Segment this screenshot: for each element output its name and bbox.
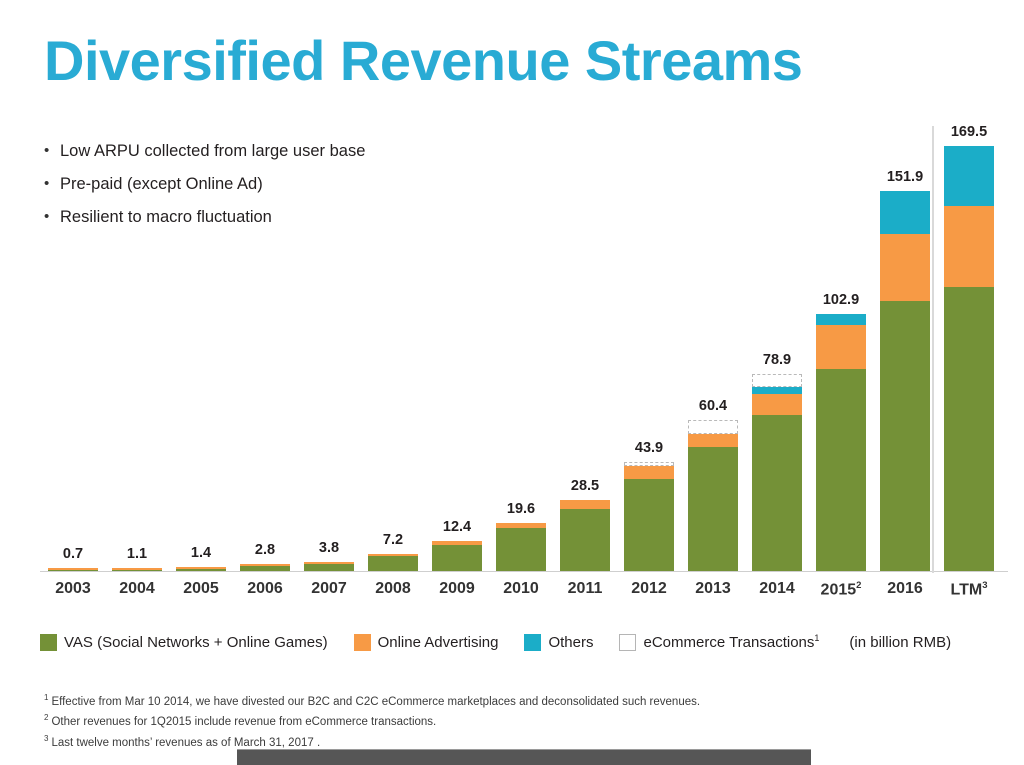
legend-item[interactable]: Online Advertising [354, 634, 499, 651]
bar-segment [816, 325, 866, 369]
bar-group[interactable] [48, 120, 98, 572]
bar-group[interactable] [688, 120, 738, 572]
footnote-text: Effective from Mar 10 2014, we have dive… [51, 696, 700, 708]
legend-item[interactable]: eCommerce Transactions1 [619, 633, 819, 651]
x-axis-tick-label: 2006 [240, 580, 290, 598]
chart-plot-area: 0.71.11.42.83.87.212.419.628.543.960.478… [40, 120, 1010, 572]
bar-stack [752, 374, 802, 572]
x-axis-tick-label: 2004 [112, 580, 162, 598]
bar-group[interactable] [368, 120, 418, 572]
tick-label-text: 2010 [503, 580, 539, 597]
bar-segment [624, 479, 674, 572]
x-axis-tick-label: 20152 [816, 580, 866, 599]
footnote-marker: 2 [44, 713, 48, 722]
tick-label-text: 2015 [821, 581, 857, 598]
bar-value-label: 0.7 [63, 546, 83, 562]
footnote-marker: 3 [44, 734, 48, 743]
bar-group[interactable] [560, 120, 610, 572]
tick-label-text: 2012 [631, 580, 667, 597]
tick-label-text: 2016 [887, 580, 923, 597]
footnote-text: Last twelve months’ revenues as of March… [51, 736, 320, 748]
bar-stack [816, 314, 866, 572]
bar-segment [560, 500, 610, 509]
legend-swatch-icon [354, 634, 371, 651]
legend-swatch-icon [40, 634, 57, 651]
bar-segment [688, 420, 738, 434]
tick-label-text: 2013 [695, 580, 731, 597]
bar-value-label: 28.5 [571, 478, 599, 494]
bar-value-label: 78.9 [763, 352, 791, 368]
bar-value-label: 1.1 [127, 546, 147, 562]
x-axis-tick-label: 2009 [432, 580, 482, 598]
legend-label-text: eCommerce Transactions [643, 634, 814, 651]
bar-stack [496, 523, 546, 572]
bar-group[interactable] [240, 120, 290, 572]
legend-units-label: (in billion RMB) [849, 634, 951, 651]
legend-label: Online Advertising [378, 634, 499, 651]
footnote-item: 3Last twelve months’ revenues as of Marc… [44, 731, 874, 751]
tick-label-text: 2011 [568, 580, 603, 597]
bar-stack [432, 541, 482, 572]
x-axis-tick-label: 2011 [560, 580, 610, 598]
x-axis-tick-label: 2008 [368, 580, 418, 598]
footnote-marker: 1 [44, 693, 48, 702]
bar-segment [688, 447, 738, 572]
bar-segment [752, 387, 802, 394]
x-axis-baseline [40, 571, 1008, 572]
bar-segment [432, 545, 482, 572]
legend-label: eCommerce Transactions1 [643, 633, 819, 651]
tick-label-superscript: 3 [982, 580, 987, 591]
bar-stack [688, 420, 738, 572]
legend-label-superscript: 1 [814, 633, 819, 643]
bar-stack [624, 462, 674, 572]
ltm-separator-line [932, 126, 934, 573]
bar-segment [880, 301, 930, 572]
x-axis-tick-label: 2016 [880, 580, 930, 598]
bar-group[interactable] [752, 120, 802, 572]
tick-label-text: LTM [951, 581, 983, 598]
bar-stack [944, 146, 994, 572]
bar-segment [752, 374, 802, 387]
bar-group[interactable] [816, 120, 866, 572]
tick-label-text: 2003 [55, 580, 91, 597]
bar-segment [752, 394, 802, 415]
bottom-accent-bar [237, 749, 811, 765]
x-axis-tick-label: 2013 [688, 580, 738, 598]
tick-label-superscript: 2 [856, 580, 861, 591]
legend-item[interactable]: Others [524, 634, 593, 651]
x-axis-tick-label: 2012 [624, 580, 674, 598]
legend-item[interactable]: VAS (Social Networks + Online Games) [40, 634, 328, 651]
bar-value-label: 102.9 [823, 292, 859, 308]
tick-label-text: 2007 [311, 580, 347, 597]
bar-value-label: 151.9 [887, 169, 923, 185]
bar-group[interactable] [432, 120, 482, 572]
legend-label-text: Online Advertising [378, 634, 499, 651]
bar-segment [880, 234, 930, 302]
footnote-item: 1Effective from Mar 10 2014, we have div… [44, 690, 874, 710]
bar-segment [880, 191, 930, 234]
bar-stack [560, 500, 610, 572]
bar-group[interactable] [944, 120, 994, 572]
x-axis-tick-label: 2003 [48, 580, 98, 598]
legend-label: Others [548, 634, 593, 651]
tick-label-text: 2006 [247, 580, 283, 597]
footnote-list: 1Effective from Mar 10 2014, we have div… [44, 690, 874, 751]
bar-segment [560, 509, 610, 572]
bar-segment [368, 556, 418, 572]
bar-value-label: 1.4 [191, 545, 211, 561]
legend-label-text: Others [548, 634, 593, 651]
bar-group[interactable] [112, 120, 162, 572]
tick-label-text: 2008 [375, 580, 411, 597]
bar-segment [816, 369, 866, 572]
footnote-item: 2Other revenues for 1Q2015 include reven… [44, 710, 874, 730]
bar-segment [944, 206, 994, 288]
bar-group[interactable] [176, 120, 226, 572]
chart-legend: VAS (Social Networks + Online Games)Onli… [40, 633, 951, 651]
bar-segment [944, 146, 994, 205]
bar-segment [496, 528, 546, 572]
tick-label-text: 2014 [759, 580, 795, 597]
bar-value-label: 19.6 [507, 501, 535, 517]
bar-segment [752, 415, 802, 572]
bar-value-label: 3.8 [319, 540, 339, 556]
bar-segment [624, 466, 674, 479]
x-axis-tick-label: 2010 [496, 580, 546, 598]
x-axis-tick-label: 2005 [176, 580, 226, 598]
bar-segment [944, 287, 994, 572]
bar-value-label: 43.9 [635, 440, 663, 456]
footnote-text: Other revenues for 1Q2015 include revenu… [51, 716, 436, 728]
bar-value-label: 169.5 [951, 124, 987, 140]
legend-label-text: VAS (Social Networks + Online Games) [64, 634, 328, 651]
bar-stack [880, 191, 930, 572]
x-axis-tick-label: 2014 [752, 580, 802, 598]
bar-group[interactable] [880, 120, 930, 572]
tick-label-text: 2009 [439, 580, 475, 597]
x-axis-tick-label: LTM3 [944, 580, 994, 599]
bar-value-label: 12.4 [443, 519, 471, 535]
bar-value-label: 7.2 [383, 532, 403, 548]
bar-segment [688, 434, 738, 447]
legend-label: VAS (Social Networks + Online Games) [64, 634, 328, 651]
bar-value-label: 60.4 [699, 398, 727, 414]
bar-segment [816, 314, 866, 326]
bar-value-label: 2.8 [255, 542, 275, 558]
legend-swatch-icon [524, 634, 541, 651]
bar-stack [368, 554, 418, 572]
legend-swatch-icon [619, 634, 636, 651]
bar-group[interactable] [304, 120, 354, 572]
tick-label-text: 2004 [119, 580, 155, 597]
x-axis-tick-label: 2007 [304, 580, 354, 598]
tick-label-text: 2005 [183, 580, 219, 597]
bar-group[interactable] [624, 120, 674, 572]
